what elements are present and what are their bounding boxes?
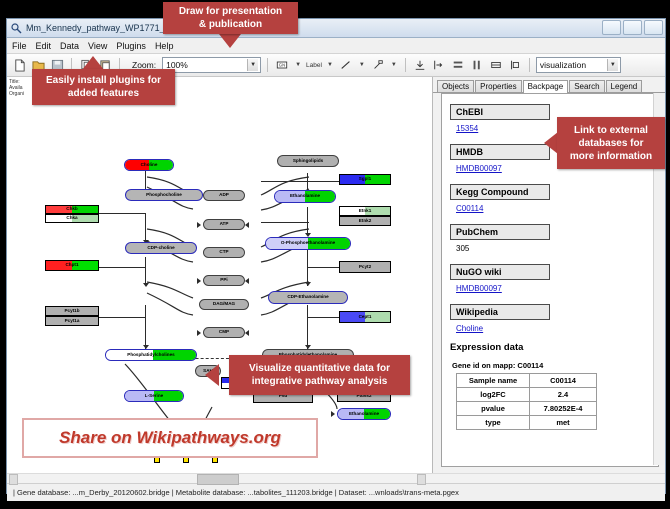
gene-etnk2[interactable]: Etnk2 xyxy=(339,216,391,226)
datanode-dropdown-arrow[interactable]: ▼ xyxy=(295,62,301,68)
node-phosphocholine[interactable]: Phosphocholine xyxy=(125,189,203,201)
gene-id-line: Gene id on mapp: C00114 xyxy=(452,361,652,370)
table-row: type met xyxy=(457,416,597,430)
node-ctp[interactable]: CTP xyxy=(203,247,245,258)
gene-pcyt1b[interactable]: Pcyt1b xyxy=(45,306,99,316)
toolbar-separator-4 xyxy=(405,58,406,72)
arrow-cmp-left xyxy=(245,330,249,336)
kegg-heading: Kegg Compound xyxy=(450,184,550,200)
node-ppi[interactable]: PPi xyxy=(203,275,245,286)
cell-key: type xyxy=(457,416,530,430)
callout-link: Link to external databases for more info… xyxy=(557,117,665,169)
arrow-atp-left xyxy=(245,222,249,228)
node-dag-mag[interactable]: DAG/MAG xyxy=(199,299,249,310)
node-label: CTP xyxy=(219,250,228,255)
cell-key: Sample name xyxy=(457,374,530,388)
nugo-link[interactable]: HMDB00097 xyxy=(456,284,652,293)
distribute-h-icon[interactable] xyxy=(469,57,485,73)
pubchem-value: 305 xyxy=(456,244,652,253)
node-l-serine-left[interactable]: L-Serine xyxy=(124,390,184,402)
callout-visualize-tail xyxy=(205,364,219,386)
canvas-hscrollbar[interactable] xyxy=(7,473,665,483)
visualization-chevron-icon[interactable]: ▼ xyxy=(607,59,618,71)
node-label: CMP xyxy=(219,330,229,335)
node-label: CDP-Ethanolamine xyxy=(287,295,328,300)
align-bottom-icon[interactable] xyxy=(412,57,428,73)
node-cdp-ethanolamine[interactable]: CDP-Ethanolamine xyxy=(268,291,348,304)
node-label: Phosphatidylcholines xyxy=(127,353,174,358)
pathway-canvas[interactable]: Title: Availa Organi xyxy=(7,77,433,473)
node-label: ATP xyxy=(220,222,229,227)
node-ethanolamine[interactable]: Ethanolamine xyxy=(274,190,336,203)
close-button[interactable] xyxy=(644,20,663,35)
title-bar: Mm_Kennedy_pathway_WP1771_45176.gpml xyxy=(7,19,665,38)
line-icon[interactable] xyxy=(338,57,354,73)
share-text: Share on Wikipathways.org xyxy=(59,428,281,448)
node-atp[interactable]: ATP xyxy=(203,219,245,230)
callout-plugins-tail xyxy=(82,56,104,70)
receptor-icon[interactable] xyxy=(370,57,386,73)
node-label: L-Serine xyxy=(145,394,163,399)
side-tabs: Objects Properties Backpage Search Legen… xyxy=(433,77,665,93)
kegg-link[interactable]: C00114 xyxy=(456,204,652,213)
wikipedia-link[interactable]: Choline xyxy=(456,324,652,333)
window-controls xyxy=(602,20,663,35)
toolbar-separator-5 xyxy=(529,58,530,72)
minimize-button[interactable] xyxy=(602,20,621,35)
menu-bar: File Edit Data View Plugins Help xyxy=(7,38,665,54)
table-row: Sample name C00114 xyxy=(457,374,597,388)
tab-search[interactable]: Search xyxy=(569,80,604,92)
maximize-button[interactable] xyxy=(623,20,642,35)
gene-label: Sgpl1 xyxy=(359,177,372,182)
gene-pcyt1a[interactable]: Pcyt1a xyxy=(45,316,99,326)
visualization-value: visualization xyxy=(540,60,586,70)
node-label: ADP xyxy=(219,193,229,198)
node-cmp[interactable]: CMP xyxy=(203,327,245,338)
hscroll-right-arrow[interactable] xyxy=(417,474,426,485)
align-left-icon[interactable] xyxy=(431,57,447,73)
status-text: | Gene database: ...m_Derby_20120602.bri… xyxy=(7,488,459,497)
screenshot-root: Mm_Kennedy_pathway_WP1771_45176.gpml Fil… xyxy=(0,0,670,509)
zoom-combobox[interactable]: 100% ▼ xyxy=(162,57,261,73)
label-tool-label[interactable]: Label xyxy=(306,62,322,69)
node-label: PPi xyxy=(220,278,227,283)
hscroll-thumb[interactable] xyxy=(197,474,239,485)
tab-backpage[interactable]: Backpage xyxy=(523,80,569,93)
chebi-heading: ChEBI xyxy=(450,104,550,120)
cell-value: 7.80252E-4 xyxy=(530,402,597,416)
arrow-ppi-right xyxy=(197,278,201,284)
menu-data[interactable]: Data xyxy=(60,41,79,51)
stack-icon[interactable] xyxy=(488,57,504,73)
node-label: Ethanolamine xyxy=(349,412,379,417)
node-ethanolamine-bottom[interactable]: Ethanolamine xyxy=(337,408,391,420)
node-label: Choline xyxy=(141,163,158,168)
pubchem-heading: PubChem xyxy=(450,224,550,240)
svg-text:GN: GN xyxy=(279,63,285,68)
toolbar-separator-3 xyxy=(267,58,268,72)
node-adp[interactable]: ADP xyxy=(203,190,245,201)
arrow-atp-right xyxy=(197,222,201,228)
gene-chka[interactable]: Chka xyxy=(45,214,99,223)
gene-label: Chkb xyxy=(66,207,77,212)
arrow-ppi-left xyxy=(245,278,249,284)
chevron-down-icon[interactable]: ▼ xyxy=(247,59,258,71)
share-banner: Share on Wikipathways.org xyxy=(22,418,318,458)
group-icon[interactable] xyxy=(507,57,523,73)
gene-chpt1[interactable]: Chpt1 xyxy=(45,260,99,271)
node-choline-top[interactable]: Choline xyxy=(124,159,174,171)
hscroll-left-arrow[interactable] xyxy=(9,474,18,485)
distribute-v-icon[interactable] xyxy=(450,57,466,73)
gene-label: Chka xyxy=(66,216,77,221)
node-phosphatidylcholines[interactable]: Phosphatidylcholines xyxy=(105,349,197,361)
label-dropdown-arrow[interactable]: ▼ xyxy=(327,62,333,68)
expression-table: Sample name C00114 log2FC 2.4 pvalue 7.8… xyxy=(456,373,597,430)
gene-etnk1[interactable]: Etnk1 xyxy=(339,206,391,216)
gene-sgpl1[interactable]: Sgpl1 xyxy=(339,174,391,185)
menu-file[interactable]: File xyxy=(12,41,27,51)
cell-value: 2.4 xyxy=(530,388,597,402)
node-label: O-Phosphoethanolamine xyxy=(281,241,335,246)
tab-legend[interactable]: Legend xyxy=(606,80,643,92)
cell-value: met xyxy=(530,416,597,430)
table-row: log2FC 2.4 xyxy=(457,388,597,402)
menu-edit[interactable]: Edit xyxy=(36,41,52,51)
node-cdp-choline[interactable]: CDP-choline xyxy=(125,242,197,254)
gene-label: Chpt1 xyxy=(65,263,78,268)
hmdb-heading: HMDB xyxy=(450,144,550,160)
node-label: Sphingolipids xyxy=(293,159,323,164)
gene-label: Etnk2 xyxy=(359,219,372,224)
line-dropdown-arrow[interactable]: ▼ xyxy=(359,62,365,68)
gene-cept1[interactable]: Cept1 xyxy=(339,311,391,323)
callout-link-tail xyxy=(544,132,558,154)
table-row: pvalue 7.80252E-4 xyxy=(457,402,597,416)
node-label: DAG/MAG xyxy=(213,302,235,307)
nugo-heading: NuGO wiki xyxy=(450,264,550,280)
callout-plugins: Easily install plugins for added feature… xyxy=(32,69,175,105)
node-label: Ethanolamine xyxy=(290,194,320,199)
node-sphingolipids[interactable]: Sphingolipids xyxy=(277,155,339,167)
gene-label: Pcyt1b xyxy=(64,309,79,314)
callout-draw-tail xyxy=(219,34,241,48)
gene-pcyt2[interactable]: Pcyt2 xyxy=(339,261,391,273)
node-label: Phosphocholine xyxy=(146,193,182,198)
gene-label: Cept1 xyxy=(359,315,372,320)
datanode-icon[interactable]: GN xyxy=(274,57,290,73)
visualization-combobox[interactable]: visualization ▼ xyxy=(536,57,621,73)
menu-view[interactable]: View xyxy=(88,41,107,51)
callout-visualize: Visualize quantitative data for integrat… xyxy=(229,355,410,395)
node-label: CDP-choline xyxy=(147,246,174,251)
gene-chkb[interactable]: Chkb xyxy=(45,205,99,214)
tab-properties[interactable]: Properties xyxy=(475,80,521,92)
new-file-icon[interactable] xyxy=(11,57,27,73)
tab-objects[interactable]: Objects xyxy=(437,80,474,92)
cell-key: pvalue xyxy=(457,402,530,416)
arrow-ethanolamine-bottom xyxy=(331,411,335,417)
callout-draw: Draw for presentation & publication xyxy=(163,2,298,34)
node-o-phosphoethanolamine[interactable]: O-Phosphoethanolamine xyxy=(265,237,351,250)
gene-label: Pcyt1a xyxy=(65,319,80,324)
status-bar: | Gene database: ...m_Derby_20120602.bri… xyxy=(7,483,665,501)
menu-help[interactable]: Help xyxy=(155,41,174,51)
cell-key: log2FC xyxy=(457,388,530,402)
cell-value: C00114 xyxy=(530,374,597,388)
menu-plugins[interactable]: Plugins xyxy=(116,41,146,51)
gene-label: Etnk1 xyxy=(359,209,372,214)
pathvisio-icon xyxy=(11,23,22,34)
receptor-dropdown-arrow[interactable]: ▼ xyxy=(391,62,397,68)
expression-data-title: Expression data xyxy=(450,342,652,353)
wikipedia-heading: Wikipedia xyxy=(450,304,550,320)
arrow-cmp-right xyxy=(197,330,201,336)
gene-label: Pcyt2 xyxy=(359,265,371,270)
